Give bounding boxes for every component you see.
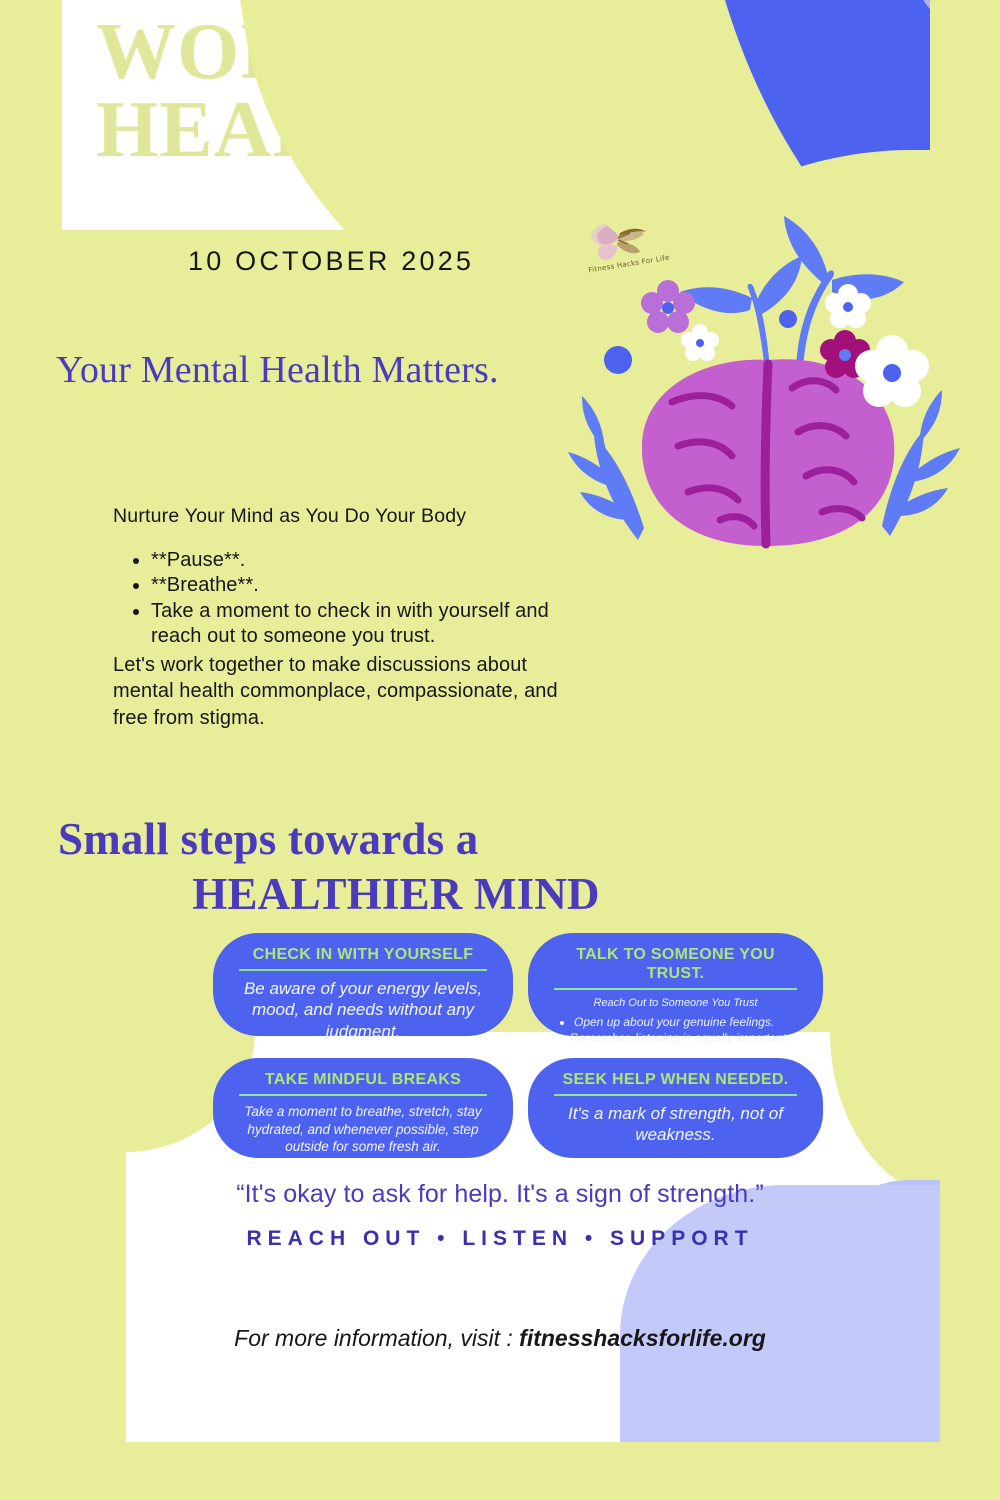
leaf-branch-right-icon [882,390,960,536]
list-item: **Pause**. [151,548,593,573]
footer-visit-label: For more information, visit : [234,1325,513,1351]
tip-card-mindful-breaks[interactable]: TAKE MINDFUL BREAKS Take a moment to bre… [213,1058,513,1158]
footer-website-link[interactable]: fitnesshacksforlife.org [519,1325,766,1351]
tip-card-subtitle: Reach Out to Someone You Trust [548,997,803,1009]
yellow-mask-bottom [0,1442,1000,1500]
list-item: Open up about your genuine feelings. [574,1015,803,1031]
list-item: Remember, listening is equally important… [556,1031,803,1047]
tip-card-bullets: Open up about your genuine feelings. Rem… [548,1015,803,1046]
tip-card-divider [554,1094,797,1096]
tip-card-title: CHECK IN WITH YOURSELF [233,945,493,964]
tip-card-divider [554,988,797,990]
tip-card-divider [239,1094,487,1096]
section-heading: Small steps towards a HEALTHIER MIND [58,812,678,922]
list-item: **Breathe**. [151,573,593,598]
tip-card-talk-to-someone[interactable]: TALK TO SOMEONE YOU TRUST. Reach Out to … [528,933,823,1036]
brand-logo: Fitness Hacks For Life [584,216,674,288]
blue-dot-large [604,346,632,374]
tip-card-body: Take a moment to breathe, stretch, stay … [233,1103,493,1156]
intro-line: Nurture Your Mind as You Do Your Body [113,505,593,528]
tip-card-divider [239,969,487,971]
tip-card-title: TALK TO SOMEONE YOU TRUST. [548,945,803,983]
tip-card-seek-help[interactable]: SEEK HELP WHEN NEEDED. It's a mark of st… [528,1058,823,1158]
action-words-banner: REACH OUT • LISTEN • SUPPORT [0,1227,1000,1251]
section-heading-line1: Small steps towards a [58,814,478,864]
poster-canvas: WORLD MENTAL HEALTH DAY [0,0,1000,1500]
tip-card-body: Be aware of your energy levels, mood, an… [233,978,493,1042]
yellow-mask-left [0,1030,126,1500]
closing-paragraph: Let's work together to make discussions … [113,652,593,732]
poster-tagline: Your Mental Health Matters. [56,348,499,392]
event-date: 10 OCTOBER 2025 [188,246,474,277]
yellow-mask-right-lower [940,1030,1000,1500]
tip-card-title: SEEK HELP WHEN NEEDED. [548,1070,803,1089]
advice-bullet-list: **Pause**. **Breathe**. Take a moment to… [113,548,593,650]
tip-card-title: TAKE MINDFUL BREAKS [233,1070,493,1089]
tip-card-body: It's a mark of strength, not of weakness… [548,1103,803,1146]
blue-dot-small [779,310,797,328]
white-flower-small-icon [681,324,719,361]
footer-visit-note: For more information, visit : fitnesshac… [0,1325,1000,1352]
tip-card-check-in[interactable]: CHECK IN WITH YOURSELF Be aware of your … [213,933,513,1036]
section-heading-line2: HEALTHIER MIND [58,867,678,922]
list-item: Take a moment to check in with yourself … [151,599,593,650]
brain-icon [642,359,894,546]
pull-quote: “It's okay to ask for help. It's a sign … [0,1180,1000,1209]
body-copy-block: Nurture Your Mind as You Do Your Body **… [113,505,593,731]
